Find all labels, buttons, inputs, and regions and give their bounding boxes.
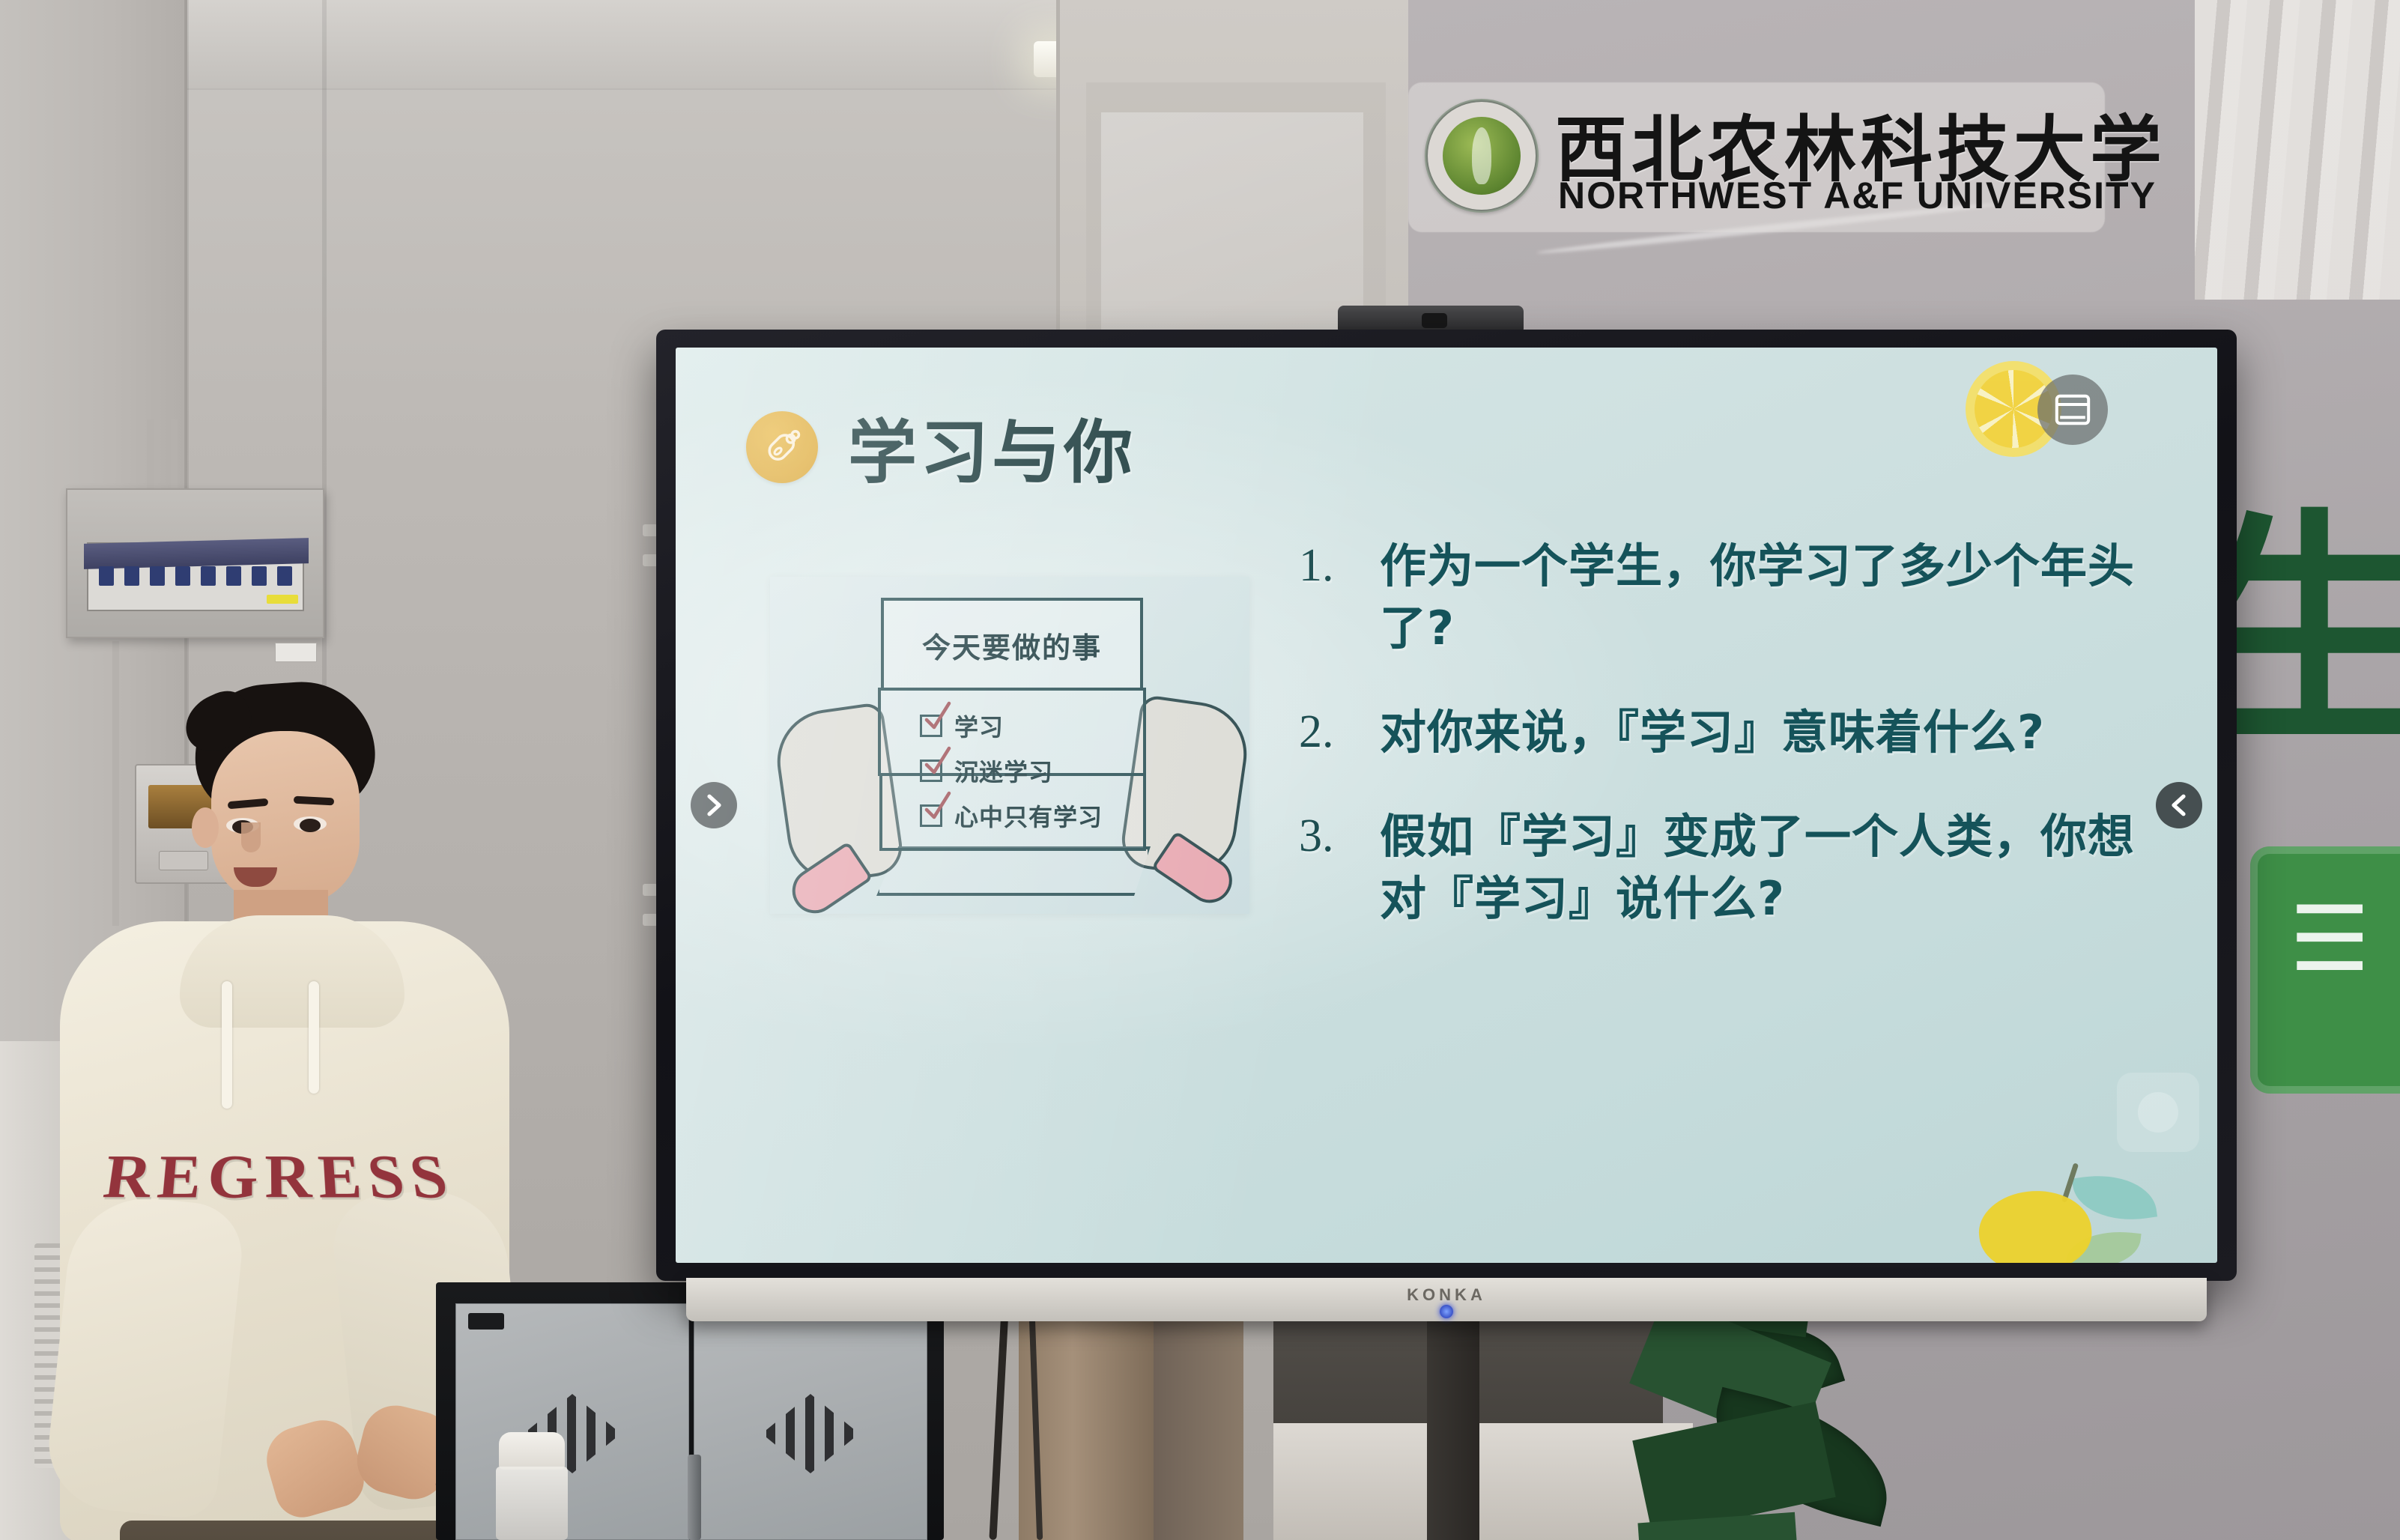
ear [192, 807, 219, 848]
breaker-switch[interactable] [175, 566, 190, 586]
camera-lens-icon [1422, 313, 1447, 328]
cabinet-door-left[interactable] [455, 1303, 689, 1540]
conduit-pipe [171, 419, 178, 491]
breaker-switch[interactable] [226, 566, 241, 586]
sleeve-cuff [1151, 831, 1241, 912]
question-text: 对你来说，『学习』意味着什么? [1380, 701, 2045, 763]
sleeve-cuff [784, 841, 873, 922]
todo-label: 心中只有学习 [954, 798, 1103, 833]
display-brand-label: KONKA [1407, 1285, 1486, 1305]
layout-panel-icon [2055, 394, 2091, 425]
slide-illustration: 今天要做的事 学习 [770, 577, 1249, 914]
capture-button[interactable] [2117, 1073, 2199, 1152]
cabinet-handle[interactable] [688, 1455, 701, 1540]
electrical-panel [66, 488, 324, 638]
seal-emblem [1443, 117, 1521, 195]
interactive-display: 学习与你 [656, 330, 2237, 1281]
check-mark-icon [924, 700, 954, 730]
todo-item: 学习 [920, 709, 1004, 743]
question-number: 1. [1299, 535, 1353, 597]
check-mark-icon [924, 745, 954, 775]
chevron-left-icon [2169, 794, 2189, 816]
slide-next-button[interactable] [691, 782, 737, 828]
paper-fold [876, 846, 1151, 896]
question-list: 1. 作为一个学生，你学习了多少个年头了? 2. 对你来说，『学习』意味着什么?… [1299, 535, 2138, 971]
todo-label: 学习 [954, 709, 1004, 743]
slide-header: 学习与你 [746, 397, 1136, 497]
eye [300, 819, 321, 832]
conduit-pipe [147, 419, 154, 491]
check-mark-icon [924, 790, 954, 820]
question-item: 2. 对你来说，『学习』意味着什么? [1299, 701, 2138, 763]
lemon-whole-icon [1979, 1162, 2136, 1263]
slide-prev-button[interactable] [2156, 782, 2202, 828]
todo-label: 沉迷学习 [954, 754, 1053, 788]
todo-paper: 今天要做的事 学习 [881, 598, 1143, 866]
drawstring [309, 981, 319, 1094]
question-number: 2. [1299, 701, 1353, 763]
bottle-cap [499, 1432, 565, 1470]
slide-canvas: 学习与你 [676, 348, 2217, 1263]
title-badge [746, 411, 818, 483]
display-screen[interactable]: 学习与你 [676, 348, 2217, 1263]
chevron-right-icon [704, 794, 724, 816]
wall-texture-strip [2195, 0, 2400, 300]
panel-info-tag [275, 643, 317, 662]
hoodie-graphic-text: REGRESS [100, 1142, 425, 1213]
question-text: 假如『学习』变成了一个人类，你想对『学习』说什么? [1380, 805, 2138, 930]
question-text: 作为一个学生，你学习了多少个年头了? [1380, 535, 2138, 659]
wheat-leaf-icon [1472, 127, 1491, 184]
trousers [120, 1521, 449, 1540]
breaker-switch[interactable] [99, 566, 114, 586]
breaker-switch[interactable] [124, 566, 139, 586]
display-side-rail [643, 554, 658, 566]
display-side-rail [643, 524, 658, 536]
question-number: 3. [1299, 805, 1353, 867]
display-bezel: 学习与你 [656, 330, 2237, 1281]
checkbox-checked [920, 715, 942, 737]
classroom-scene: 生 ☰ 西北农林科技大学 NORTHWEST A&F UNIVERSITY [0, 0, 2400, 1540]
side-table-top [1273, 1423, 1693, 1540]
cabinet-vent [762, 1394, 859, 1473]
slide-title: 学习与你 [848, 397, 1136, 497]
breaker-cover [84, 538, 309, 569]
face [211, 731, 360, 905]
university-seal-icon [1425, 99, 1539, 213]
drawstring [222, 981, 232, 1109]
breaker-switch[interactable] [277, 566, 292, 586]
nose [241, 822, 261, 852]
todo-item: 心中只有学习 [920, 798, 1103, 833]
display-side-rail [643, 914, 658, 926]
university-plaque: 西北农林科技大学 NORTHWEST A&F UNIVERSITY [1408, 82, 2105, 232]
breaker-switch[interactable] [150, 566, 165, 586]
question-item: 3. 假如『学习』变成了一个人类，你想对『学习』说什么? [1299, 805, 2138, 930]
display-chin: KONKA [686, 1278, 2207, 1321]
checkbox-checked [920, 760, 942, 782]
layout-panel-button[interactable] [2037, 375, 2108, 445]
hood [180, 915, 404, 1028]
display-side-rail [643, 884, 658, 896]
warning-label [267, 595, 298, 604]
cabinet-label [468, 1313, 504, 1330]
university-name-en: NORTHWEST A&F UNIVERSITY [1558, 174, 2157, 217]
breaker-switch[interactable] [252, 566, 267, 586]
water-bottle [491, 1432, 572, 1540]
drumstick-icon [762, 427, 802, 467]
bottle-body [496, 1467, 568, 1540]
todo-heading: 今天要做的事 [881, 625, 1143, 666]
breaker-switch[interactable] [201, 566, 216, 586]
power-indicator-led[interactable] [1440, 1305, 1453, 1318]
checkbox-checked [920, 804, 942, 827]
breaker-window [87, 542, 304, 611]
todo-item: 沉迷学习 [920, 754, 1053, 788]
question-item: 1. 作为一个学生，你学习了多少个年头了? [1299, 535, 2138, 659]
cabinet-door-right[interactable] [694, 1303, 927, 1540]
green-sign-glyph-icon: ☰ [2289, 888, 2370, 992]
